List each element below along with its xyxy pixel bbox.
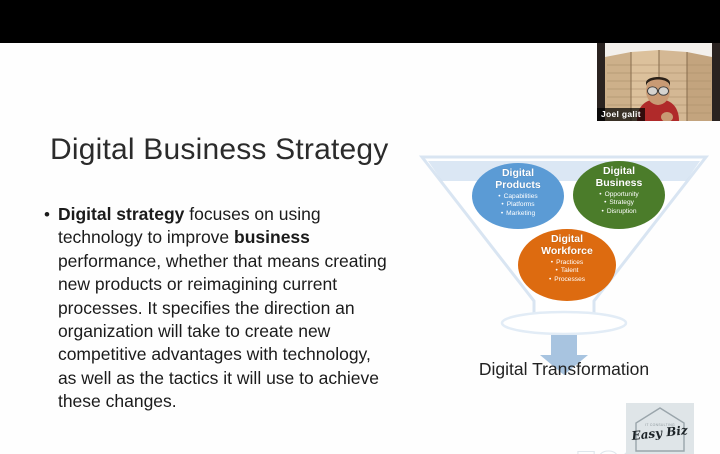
- zoom-screen-share-view: Digital Business Strategy • Digital stra…: [0, 0, 720, 454]
- node-title-line2: Workforce: [541, 246, 593, 258]
- slide-body-text: Digital strategy focuses on using techno…: [58, 203, 394, 414]
- easybiz-wordmark: Easy Biz: [626, 403, 694, 454]
- digital-transformation-funnel-diagram: Digital Products Capabilities Platforms …: [418, 151, 710, 391]
- funnel-outcome-label: Digital Transformation: [418, 359, 710, 380]
- node-item-list: Opportunity Strategy Disruption: [599, 191, 638, 216]
- funnel-node-digital-products[interactable]: Digital Products Capabilities Platforms …: [472, 163, 564, 229]
- body-text-emphasis: Digital strategy: [58, 204, 184, 224]
- node-title-line1: Digital: [502, 168, 534, 180]
- node-list-item: Platforms: [498, 201, 537, 209]
- node-title-line2: Business: [596, 178, 643, 190]
- node-title-line2: Products: [495, 180, 541, 192]
- body-text-emphasis: business: [234, 227, 310, 247]
- slide-bullet-item: • Digital strategy focuses on using tech…: [44, 203, 394, 414]
- node-title-line1: Digital: [551, 234, 583, 246]
- node-list-item: Capabilities: [498, 193, 537, 201]
- participant-name-label: Joel galit: [597, 108, 645, 121]
- slide-title: Digital Business Strategy: [50, 133, 389, 167]
- funnel-node-digital-business[interactable]: Digital Business Opportunity Strategy Di…: [573, 161, 665, 229]
- node-list-item: Opportunity: [599, 191, 638, 199]
- body-text-run: performance, whether that means creating…: [58, 251, 387, 411]
- node-list-item: Processes: [549, 276, 585, 284]
- funnel-node-digital-workforce[interactable]: Digital Workforce Practices Talent Proce…: [518, 229, 616, 301]
- node-list-item: Talent: [549, 267, 585, 275]
- node-title-line1: Digital: [603, 166, 635, 178]
- node-item-list: Practices Talent Processes: [549, 259, 585, 284]
- svg-text:Easy Biz: Easy Biz: [630, 423, 690, 443]
- easybiz-logo: IT CONSULTING Easy Biz: [626, 403, 694, 454]
- node-item-list: Capabilities Platforms Marketing: [498, 193, 537, 218]
- node-list-item: Strategy: [599, 199, 638, 207]
- participant-video-tile[interactable]: Joel galit: [597, 43, 720, 121]
- node-list-item: Practices: [549, 259, 585, 267]
- node-list-item: Marketing: [498, 210, 537, 218]
- bullet-marker-icon: •: [44, 203, 50, 414]
- node-list-item: Disruption: [599, 208, 638, 216]
